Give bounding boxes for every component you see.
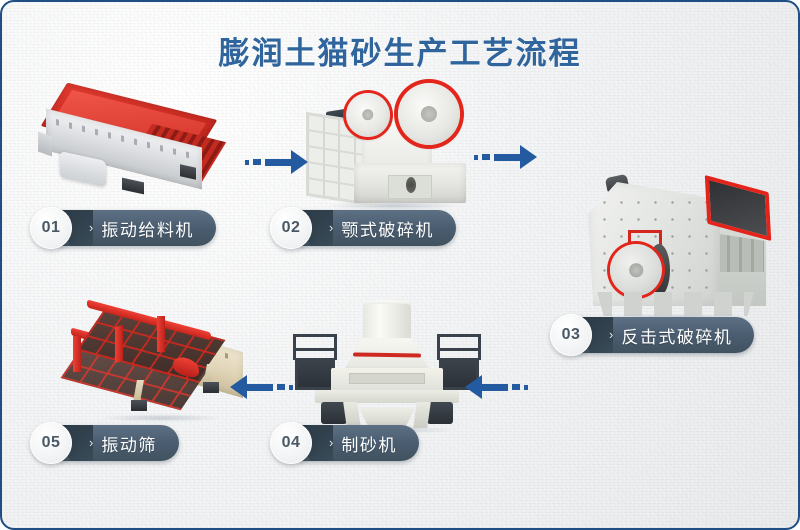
step-tag-body-03[interactable]: › 反击式破碎机	[579, 317, 754, 353]
page-title: 膨润土猫砂生产工艺流程	[2, 28, 798, 73]
arrow-shaft	[482, 384, 508, 391]
step-number-badge-02: 02	[270, 207, 312, 249]
flow-diagram-canvas: 膨润土猫砂生产工艺流程 01 › 振动给料机	[0, 0, 800, 530]
vsi-motor-right	[427, 402, 453, 424]
vsi-railing-right	[437, 334, 481, 360]
arrow-dash-small	[289, 385, 293, 390]
jaw-grid-cell	[324, 181, 340, 199]
screen-post	[73, 336, 81, 372]
step-number-badge-04: 04	[270, 422, 312, 464]
arrow-head	[230, 375, 247, 399]
vsi-railing-left	[293, 334, 337, 360]
step-label-text-03: 反击式破碎机	[621, 323, 732, 348]
chevron-right-icon: ›	[329, 221, 333, 234]
chevron-right-icon: ›	[89, 436, 93, 449]
step-label-03[interactable]: 03 › 反击式破碎机	[550, 315, 754, 355]
arrow-dash-medium	[482, 154, 490, 160]
arrow-shaft	[494, 154, 520, 161]
step-number-badge-01: 01	[30, 207, 72, 249]
chevron-right-icon: ›	[329, 436, 333, 449]
step-number-badge-05: 05	[30, 422, 72, 464]
step-label-01[interactable]: 01 › 振动给料机	[30, 208, 216, 248]
step-label-05[interactable]: 05 › 振动筛	[30, 423, 179, 463]
step-label-02[interactable]: 02 › 颚式破碎机	[270, 208, 456, 248]
step-label-text-05: 振动筛	[101, 431, 157, 456]
screen-spring-mount	[131, 400, 147, 411]
arrow-04-to-05	[230, 375, 293, 399]
vsi-platform-left	[295, 358, 335, 390]
arrow-dash-small	[245, 160, 249, 165]
arrow-head	[465, 375, 482, 399]
impact-support-legs	[594, 292, 754, 316]
arrow-dash-medium	[512, 384, 520, 390]
jaw-grid-cell	[339, 183, 355, 201]
step-tag-body-05[interactable]: › 振动筛	[59, 425, 179, 461]
step-tag-body-02[interactable]: › 颚式破碎机	[299, 210, 456, 246]
jaw-flywheel-small	[346, 93, 390, 137]
machine-jaw-crusher	[302, 77, 482, 212]
arrow-dash-small	[524, 385, 528, 390]
machine-vibrating-feeder	[32, 90, 232, 205]
arrow-02-to-03	[474, 145, 537, 169]
chevron-right-icon: ›	[609, 328, 613, 341]
arrow-dash-medium	[277, 384, 285, 390]
step-label-text-01: 振动给料机	[101, 216, 194, 241]
jaw-flywheel-hub	[362, 109, 373, 120]
machine-vibrating-screen	[57, 314, 247, 429]
arrow-03-to-04	[465, 375, 528, 399]
arrow-head	[291, 150, 308, 174]
jaw-flywheel-hub	[421, 106, 437, 122]
feeder-mount-a	[122, 178, 144, 195]
impact-pulley-hub	[629, 263, 643, 277]
screen-spring-mount	[203, 382, 219, 393]
vsi-inspection-hatch	[349, 373, 425, 384]
step-label-text-04: 制砂机	[341, 431, 397, 456]
feeder-end-plate	[38, 131, 52, 156]
jaw-base	[354, 163, 466, 203]
arrow-dash-small	[474, 155, 478, 160]
jaw-flywheel-large	[398, 83, 460, 145]
arrow-shaft	[247, 384, 273, 391]
arrow-dash-medium	[253, 159, 261, 165]
chevron-right-icon: ›	[89, 221, 93, 234]
impact-drive-pulley	[610, 244, 662, 296]
step-tag-body-04[interactable]: › 制砂机	[299, 425, 419, 461]
screen-post	[157, 316, 165, 352]
arrow-shaft	[265, 159, 291, 166]
machine-sand-making-machine	[287, 304, 487, 429]
screen-post	[115, 325, 123, 363]
jaw-discharge-opening	[406, 177, 416, 193]
step-tag-body-01[interactable]: › 振动给料机	[59, 210, 216, 246]
step-number-badge-03: 03	[550, 314, 592, 356]
step-label-text-02: 颚式破碎机	[341, 216, 434, 241]
jaw-grid-cell	[308, 178, 324, 196]
screen-shadow	[101, 414, 221, 422]
step-label-04[interactable]: 04 › 制砂机	[270, 423, 419, 463]
arrow-head	[520, 145, 537, 169]
machine-impact-crusher	[582, 174, 782, 324]
arrow-01-to-02	[245, 150, 308, 174]
